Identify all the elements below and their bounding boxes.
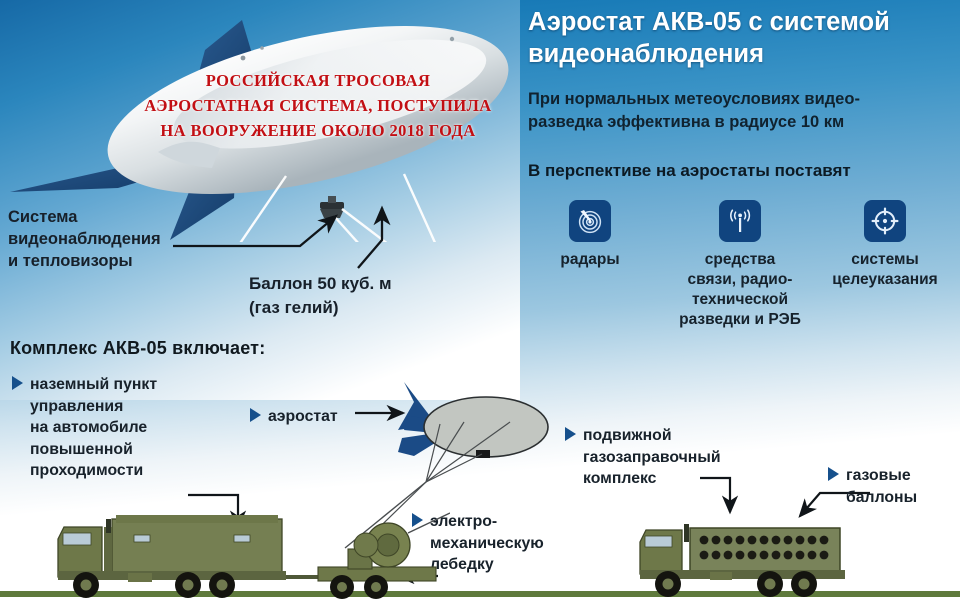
exhaust-stack	[684, 524, 689, 542]
radar-icon	[575, 206, 605, 236]
payload-targeting-line-2: целеуказания	[815, 270, 955, 290]
red-line-2: АЭРОСТАТНАЯ СИСТЕМА, ПОСТУПИЛА	[118, 93, 518, 118]
callout-video-system: Система видеонаблюдения и тепловизоры	[8, 206, 208, 272]
radar-icon-box	[569, 200, 611, 242]
page-title-line-2: видеонаблюдения	[528, 38, 948, 70]
callout-balloon-volume: Баллон 50 куб. м (газ гелий)	[249, 272, 459, 320]
payload-item-targeting: системы целеуказания	[815, 200, 955, 290]
future-payloads-row: радары средства связи, радио-	[520, 200, 960, 370]
hull-mark	[241, 56, 246, 61]
bullet-gas-complex: подвижной газозаправочный комплекс	[565, 425, 745, 490]
crosshair-icon-box	[864, 200, 906, 242]
payload-item-radar: радары	[520, 200, 660, 270]
payload-comms-line-1: средства	[670, 250, 810, 270]
antenna-icon	[725, 206, 755, 236]
command-shelter-body	[112, 519, 282, 577]
callout-balloon-line-1: Баллон 50 куб. м	[249, 272, 459, 296]
bullet-cylinders: газовые баллоны	[828, 465, 953, 508]
chassis-box	[128, 573, 152, 582]
page-title-line-1: Аэростат АКВ-05 с системой	[528, 6, 948, 38]
shelter-window	[134, 535, 150, 542]
red-line-3: НА ВООРУЖЕНИЕ ОКОЛО 2018 ГОДА	[118, 118, 518, 143]
callout-video-line-3: и тепловизоры	[8, 250, 208, 272]
payload-label-radar: радары	[520, 250, 660, 270]
future-payloads-heading: В перспективе на аэростаты поставят	[528, 160, 958, 182]
bullet-gas-line-2: газозаправочный	[583, 447, 745, 469]
cab-windshield	[645, 536, 672, 547]
infographic-root: РОССИЙСКАЯ ТРОСОВАЯ АЭРОСТАТНАЯ СИСТЕМА,…	[0, 0, 960, 605]
command-truck-and-winch	[30, 505, 450, 600]
command-shelter-roof	[116, 515, 278, 523]
callout-video-line-1: Система	[8, 206, 208, 228]
bullet-ground-line-4: повышенной	[30, 439, 202, 461]
hull-mark	[260, 46, 264, 50]
cab-rear-panel	[104, 527, 112, 577]
winch-cable	[408, 513, 450, 533]
bullet-ground-station: наземный пункт управления на автомобиле …	[12, 374, 202, 482]
shelter-window	[234, 535, 250, 542]
gas-cylinder-truck	[628, 512, 878, 600]
bullet-cyl-line-2: баллоны	[846, 487, 953, 509]
red-overlay-text: РОССИЙСКАЯ ТРОСОВАЯ АЭРОСТАТНАЯ СИСТЕМА,…	[118, 68, 518, 143]
payload-label-targeting: системы целеуказания	[815, 250, 955, 290]
page-subtitle-line-2: разведка эффективна в радиусе 10 км	[528, 111, 958, 134]
complex-section-title: Комплекс АКВ-05 включает:	[10, 338, 265, 359]
bullet-triangle-icon	[828, 467, 839, 481]
camera-gondola	[320, 196, 344, 218]
payload-comms-line-2: связи, радио-	[670, 270, 810, 290]
bullet-aerostat-line-1: аэростат	[268, 408, 338, 425]
exhaust-stack	[106, 519, 111, 533]
schematic-gondola	[476, 450, 490, 458]
callout-balloon-line-2: (газ гелий)	[249, 296, 459, 320]
payload-targeting-line-1: системы	[815, 250, 955, 270]
bullet-cyl-line-1: газовые	[846, 467, 911, 484]
page-subtitle: При нормальных метеоусловиях видео- разв…	[528, 88, 958, 134]
bullet-gas-line-1: подвижной	[583, 427, 672, 444]
tow-bar	[286, 575, 318, 579]
cargo-bed	[690, 528, 840, 573]
payload-comms-line-3: технической	[670, 290, 810, 310]
bullet-ground-line-1: наземный пункт	[30, 376, 157, 393]
schematic-hull	[424, 397, 548, 457]
payload-item-comms: средства связи, радио- технической разве…	[670, 200, 810, 330]
payload-comms-line-4: разведки и РЭБ	[670, 310, 810, 330]
payload-label-comms: средства связи, радио- технической разве…	[670, 250, 810, 330]
bullet-ground-line-2: управления	[30, 396, 202, 418]
winch-trailer	[318, 513, 450, 599]
bullet-gas-line-3: комплекс	[583, 468, 745, 490]
red-line-1: РОССИЙСКАЯ ТРОСОВАЯ	[118, 68, 518, 93]
antenna-icon-box	[719, 200, 761, 242]
callout-video-line-2: видеонаблюдения	[8, 228, 208, 250]
bullet-ground-line-5: проходимости	[30, 460, 202, 482]
page-title: Аэростат АКВ-05 с системой видеонаблюден…	[528, 6, 948, 70]
chassis-box	[710, 572, 732, 580]
hull-mark	[450, 37, 454, 41]
bullet-ground-line-3: на автомобиле	[30, 417, 202, 439]
cab-windshield	[63, 533, 91, 545]
payload-radar-line-1: радары	[520, 250, 660, 270]
crosshair-icon	[870, 206, 900, 236]
bullet-triangle-icon	[250, 408, 261, 422]
page-subtitle-line-1: При нормальных метеоусловиях видео-	[528, 88, 958, 111]
bullet-triangle-icon	[12, 376, 23, 390]
